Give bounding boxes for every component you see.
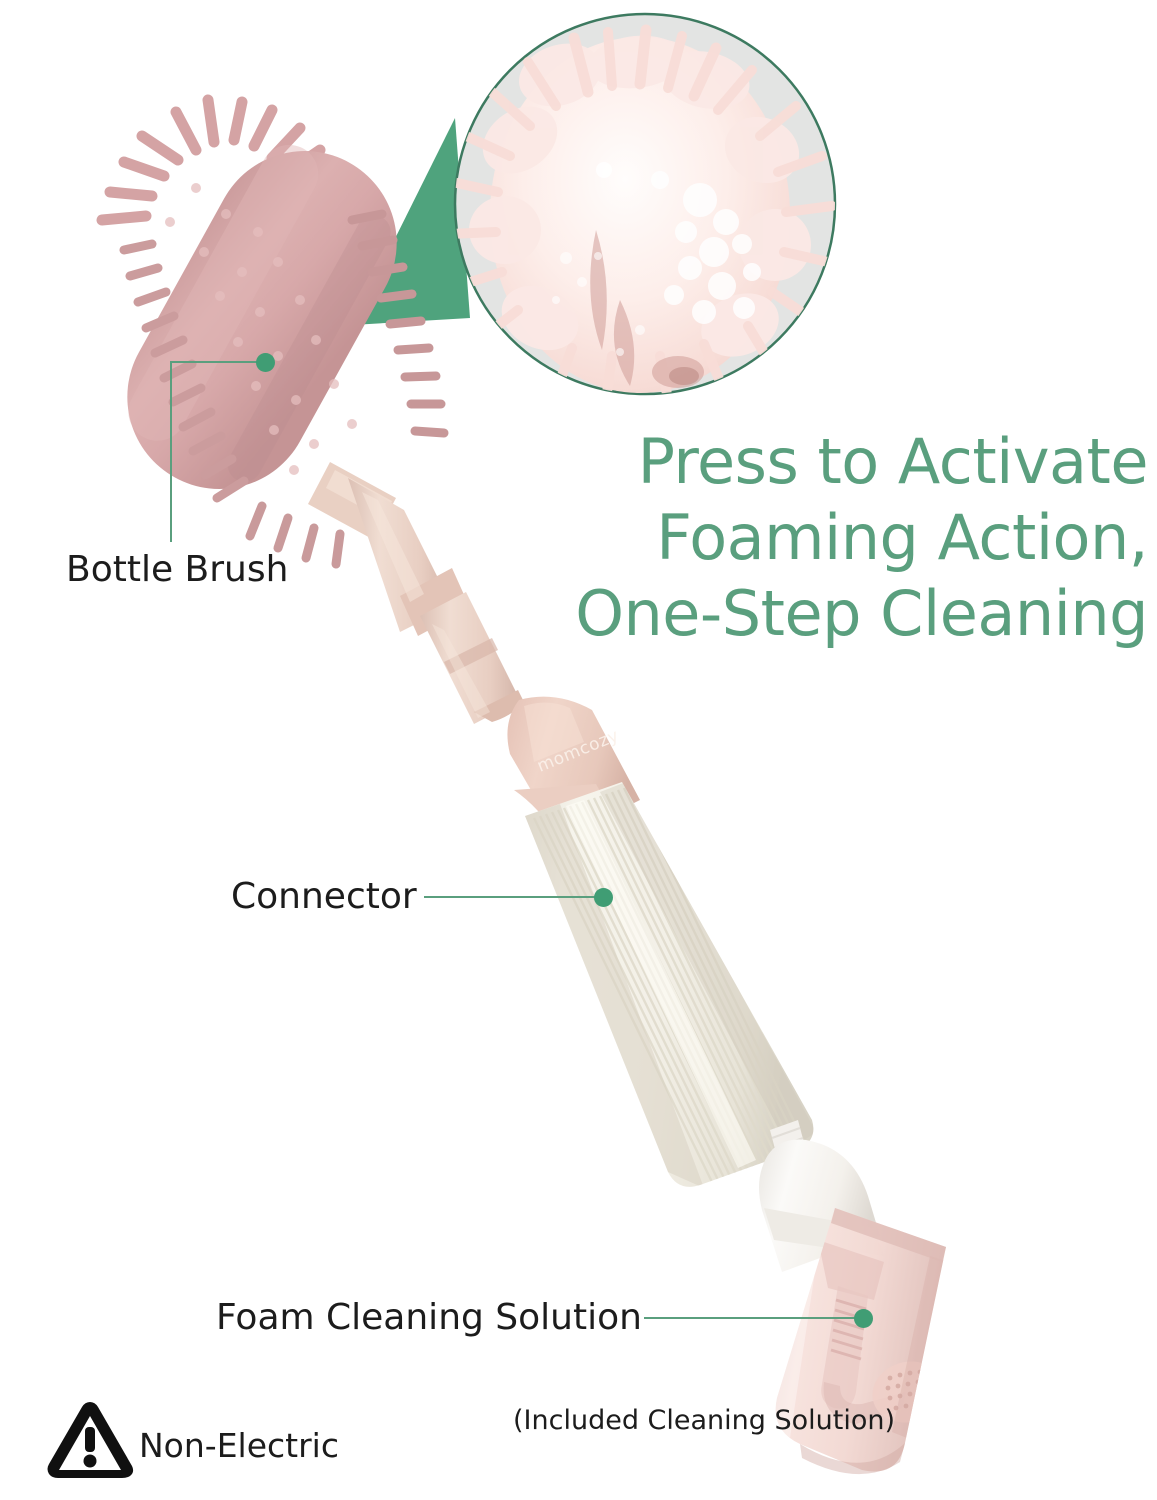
warning-triangle-icon [42, 1396, 138, 1482]
callout-label-bottle-brush: Bottle Brush [66, 550, 288, 590]
headline: Press to Activate Foaming Action, One-St… [500, 424, 1148, 652]
headline-line-1: Press to Activate [500, 424, 1148, 500]
headline-line-3: One-Step Cleaning [500, 576, 1148, 652]
leader-line-connector [424, 896, 604, 898]
leader-line-bottle-brush-vertical [170, 362, 172, 542]
magnified-inset-circle [450, 14, 835, 400]
headline-line-2: Foaming Action, [500, 500, 1148, 576]
leader-line-foam-solution [644, 1317, 864, 1319]
leader-line-bottle-brush-horizontal [170, 361, 266, 363]
callout-dot-connector [594, 888, 613, 907]
brand-logo-text: momcozy [534, 726, 622, 777]
infographic-page: momcozy [0, 0, 1157, 1500]
non-electric-label: Non-Electric [139, 1427, 339, 1465]
callout-dot-bottle-brush [256, 353, 275, 372]
included-solution-note: (Included Cleaning Solution) [513, 1405, 895, 1437]
connector-unit: momcozy [507, 697, 816, 1188]
svg-text:momcozy: momcozy [534, 726, 622, 777]
callout-dot-foam-solution [854, 1309, 873, 1328]
callout-label-connector: Connector [231, 877, 417, 917]
callout-label-foam-solution: Foam Cleaning Solution [216, 1298, 642, 1338]
bottle-brush-head [94, 100, 444, 564]
product-illustration: momcozy [0, 0, 1157, 1500]
inset-pointer-wedge [352, 118, 470, 325]
brush-handle-rod [348, 478, 524, 724]
